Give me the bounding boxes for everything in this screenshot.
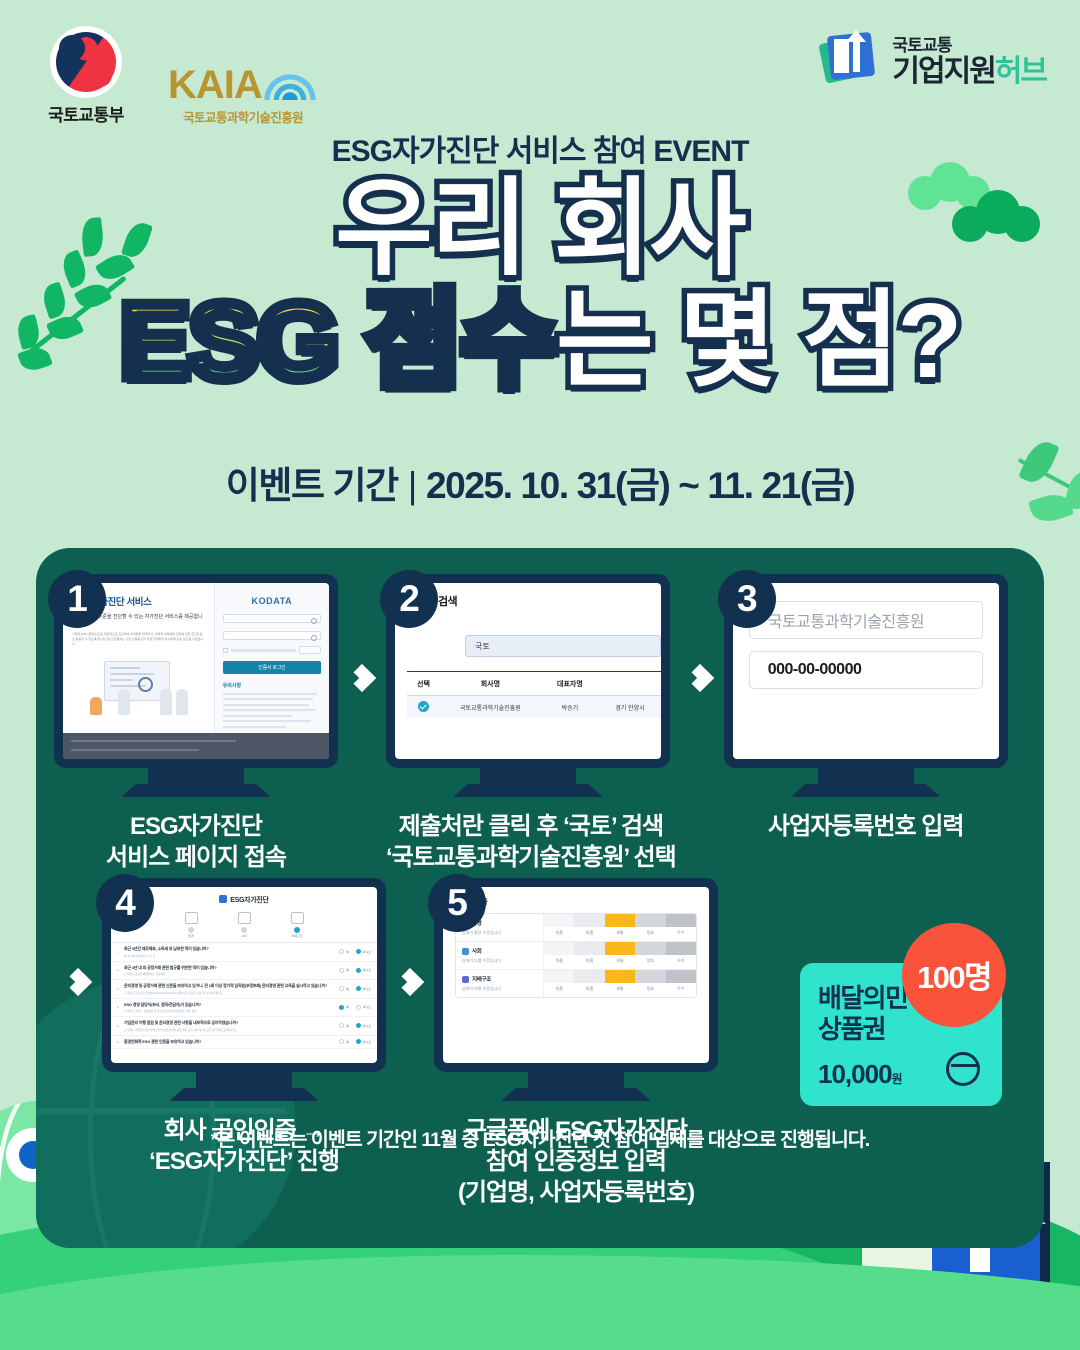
radio-yes[interactable] [339, 949, 344, 954]
step-2-badge: 2 [380, 570, 438, 628]
headline: 우리 회사 ESG 점수는 몇 점? [0, 178, 1080, 397]
step-1: 1 ESG자가진단 서비스 기업의 ESG수준을 진단할 수 있는 자가진단 서… [54, 574, 338, 873]
chevron-right-icon [338, 590, 386, 766]
step-2-col-company: 회사명 [440, 679, 541, 689]
list-item[interactable]: 3 윤리경영 및 공정거래 관련 신문을 보유하고 있거나, 전 1회 이상 정… [111, 980, 377, 999]
list-item[interactable]: 5 기업윤리 이행 점검 및 윤리경영 관련 사항을 내부적으로 공지하였습니까… [111, 1017, 377, 1036]
step-3-biznum-field[interactable]: 000-00-00000 [749, 651, 983, 689]
hub-logo-main-label: 기업지원 [892, 55, 994, 88]
step-2: 2 제출처 검색 국토 선택 회사명 대표자명 [386, 574, 676, 873]
step-1-caption-line-2: 서비스 페이지 접속 [54, 842, 338, 873]
steps-panel: 1 ESG자가진단 서비스 기업의 ESG수준을 진단할 수 있는 자가진단 서… [36, 548, 1044, 1248]
step-1-guide-title: 유의사항 [223, 682, 321, 689]
chevron-right-icon [676, 590, 724, 766]
step-2-screen-heading: 제출처 검색 [407, 593, 661, 609]
step-2-caption-line-1: 제출처란 클릭 후 ‘국토’ 검색 [386, 811, 676, 842]
event-note: *본 이벤트는 이벤트 기간인 11월 중 ESG자가진단 첫 참여 업체를 대… [36, 1123, 1044, 1152]
step-2-caption-line-2: ‘국토교통과학기술진흥원’ 선택 [386, 842, 676, 873]
step-3: 3 국토교통과학기술진흥원 000-00-00000 사업자등록번호 입력 [724, 574, 1008, 842]
prize-amount-unit: 원 [892, 1072, 903, 1086]
event-eyebrow: ESG자가진단 서비스 참여 EVENT [0, 126, 1080, 170]
event-period-divider: | [408, 465, 416, 506]
headline-line-2-tail: 는 몇 점? [556, 282, 960, 400]
step-5-screen-heading: 항목별 결과 [455, 897, 697, 907]
step-1-login-button[interactable]: 인증서 로그인 [223, 661, 321, 674]
list-item[interactable]: 4 ESG 경영 담당자(부서, 겸직/전담자)가 있습니까?근거자료: 조직도… [111, 999, 377, 1018]
kaia-wordmark: KAIA [168, 65, 262, 105]
table-row[interactable]: 국토교통과학기술진흥원 박승기 경기 안양시 [407, 696, 661, 718]
prize-block: 배달의민족 상품권 10,000원 100명 [800, 963, 1002, 1106]
headline-line-1: 우리 회사 [0, 178, 1080, 282]
step-3-caption: 사업자등록번호 입력 [724, 811, 1008, 842]
radio-no[interactable] [356, 1039, 361, 1044]
step-2-search-input[interactable]: 국토 [465, 635, 661, 657]
step-2-caption: 제출처란 클릭 후 ‘국토’ 검색 ‘국토교통과학기술진흥원’ 선택 [386, 811, 676, 873]
partner-logos: 국토교통부 KAIA 국토교통과학기술진흥원 [30, 28, 318, 126]
step-4-progress-env: 환경 [185, 912, 198, 938]
logo-kaia: KAIA 국토교통과학기술진흥원 [168, 65, 318, 126]
step-2-col-select: 선택 [407, 679, 440, 689]
step-5-caption-line-3: (기업명, 사업자등록번호) [434, 1177, 718, 1208]
event-period: 이벤트 기간|2025. 10. 31(금) ~ 11. 21(금) [0, 455, 1080, 509]
check-icon[interactable] [418, 701, 429, 712]
step-1-guide-lines [223, 693, 321, 728]
kaia-logo-label: 국토교통과학기술진흥원 [168, 107, 318, 126]
table-row: 환경 상대기 평균 수준입니다 미흡 미흡 보통 양호 우수 [456, 914, 696, 942]
headline-esg-score: ESG 점수 [120, 282, 556, 400]
step-3-company-field[interactable]: 국토교통과학기술진흥원 [749, 601, 983, 639]
taegeuk-icon [52, 28, 120, 96]
step-2-table-header: 선택 회사명 대표자명 [407, 672, 661, 696]
society-icon [462, 948, 469, 955]
step-2-row-ceo: 박승기 [541, 703, 599, 712]
hub-building-icon [822, 30, 880, 88]
step-1-check-button[interactable] [299, 646, 321, 654]
radio-yes[interactable] [339, 986, 344, 991]
esg-app-icon [219, 895, 227, 903]
step-5-badge: 5 [428, 874, 486, 932]
step-2-row-company: 국토교통과학기술진흥원 [440, 703, 541, 712]
step-1-caption: ESG자가진단 서비스 페이지 접속 [54, 811, 338, 873]
chevron-right-icon [386, 894, 434, 1070]
radio-yes[interactable] [339, 1005, 344, 1010]
step-1-consent-row[interactable] [223, 646, 321, 654]
step-1-search-field[interactable] [223, 614, 321, 623]
step-1-badge: 1 [48, 570, 106, 628]
logo-support-hub: 국토교통 기업지원허브 [822, 30, 1046, 88]
step-2-row-region: 경기 안양시 [599, 703, 661, 712]
list-item[interactable]: 2 최근 3년 내 외 공정거래 관련 법규를 위반한 적이 있습니까?근거자료… [111, 962, 377, 981]
step-5: 5 항목별 결과 환경 상대기 평균 수준입니다 [434, 878, 718, 1209]
radio-yes[interactable] [339, 968, 344, 973]
hub-logo-accent-label: 허브 [995, 55, 1046, 88]
radio-yes[interactable] [339, 1023, 344, 1028]
step-1-illustration [72, 655, 205, 717]
event-period-label: 이벤트 기간 [226, 465, 398, 506]
table-row: 사회 상대기 다를 수준입니다 미흡 미흡 보통 양호 우수 [456, 942, 696, 970]
step-5-result-table: 환경 상대기 평균 수준입니다 미흡 미흡 보통 양호 우수 [455, 913, 697, 998]
step-3-caption-line-1: 사업자등록번호 입력 [724, 811, 1008, 842]
radio-yes[interactable] [339, 1039, 344, 1044]
prize-amount: 10,000 [818, 1059, 892, 1089]
radio-no[interactable] [356, 1023, 361, 1028]
step-4-badge: 4 [96, 874, 154, 932]
step-2-row-select[interactable] [407, 701, 440, 714]
kaia-fan-icon [262, 68, 318, 100]
bowl-icon [946, 1052, 980, 1086]
logo-motie: 국토교통부 [30, 28, 142, 126]
step-1-password-field[interactable] [223, 631, 321, 640]
radio-no[interactable] [356, 968, 361, 973]
table-row: 지배구조 상대기 보통 수준입니다 미흡 미흡 보통 양호 우수 [456, 970, 696, 997]
list-item[interactable]: 6 환경친화적 ESG 관련 인증을 보유하고 있습니까? 예아니오 [111, 1036, 377, 1049]
step-4-progress-soc: 사회 [238, 912, 251, 938]
steps-row-2: 4 ESG자가진단 환경 [54, 878, 718, 1209]
governance-icon [462, 976, 469, 983]
event-period-value: 2025. 10. 31(금) ~ 11. 21(금) [426, 465, 854, 506]
step-3-badge: 3 [718, 570, 776, 628]
step-2-results-table: 선택 회사명 대표자명 국토교통과학기술진흥원 박승기 경기 안양시 [407, 671, 661, 718]
chevron-right-icon [54, 894, 102, 1070]
step-4-progress-gov: 지배구조 [291, 912, 304, 938]
step-2-col-ceo: 대표자명 [541, 679, 599, 689]
list-item[interactable]: 1 최근 3년간 재무제표, 소득세 외 납부한 적이 있습니까?예: 부가세,… [111, 943, 377, 962]
step-1-consent-checkbox[interactable] [223, 648, 228, 653]
hub-logo-top-label: 국토교통 [892, 31, 1046, 56]
radio-no[interactable] [356, 986, 361, 991]
radio-no[interactable] [356, 1005, 361, 1010]
radio-no[interactable] [356, 949, 361, 954]
step-1-consent-label [231, 649, 296, 652]
prize-winner-badge: 100명 [902, 923, 1006, 1027]
step-1-screen-paragraph: 기업의 ESG 경영수준 등 객관적으로 진단하여 취약점을 파악하고, 자체적… [72, 632, 205, 647]
step-1-caption-line-1: ESG자가진단 [54, 811, 338, 842]
step-1-kodata-logo: KODATA [223, 596, 321, 606]
gov-logo-label: 국토교통부 [30, 101, 142, 126]
steps-row-1: 1 ESG자가진단 서비스 기업의 ESG수준을 진단할 수 있는 자가진단 서… [54, 574, 1008, 873]
